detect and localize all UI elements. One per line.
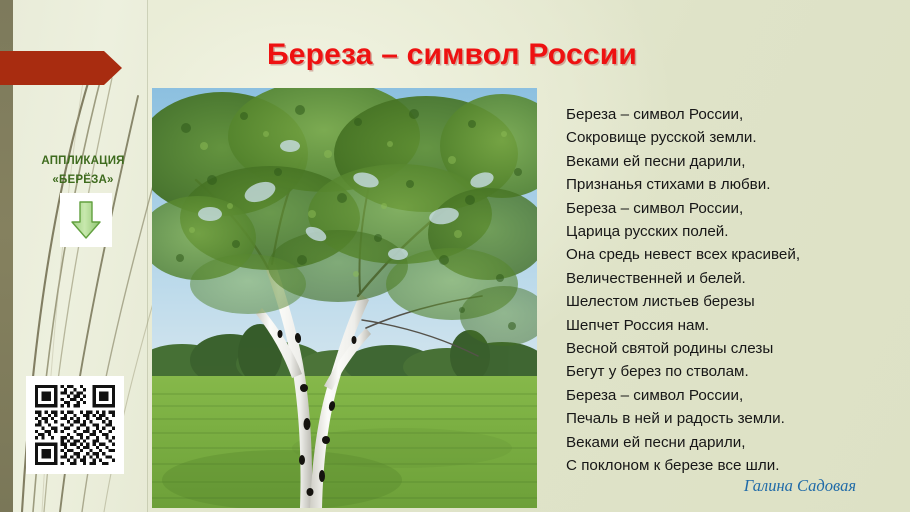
poem-line: Она средь невест всех красивей, <box>566 243 896 266</box>
qr-code-container[interactable] <box>26 376 124 474</box>
poem-line: Береза – символ России, <box>566 103 896 126</box>
poem-line: Величественней и белей. <box>566 267 896 290</box>
poem-line: Веками ей песни дарили, <box>566 431 896 454</box>
poem-line: Веками ей песни дарили, <box>566 150 896 173</box>
qr-code-icon <box>35 385 115 465</box>
poem-line: Печаль в ней и радость земли. <box>566 407 896 430</box>
sidebar-divider <box>147 0 148 512</box>
sidebar-caption-line1: АППЛИКАЦИЯ <box>22 152 144 171</box>
poem-line: Бегут у берез по стволам. <box>566 360 896 383</box>
page-title: Береза – символ России <box>152 38 752 72</box>
poem-line: Береза – символ России, <box>566 384 896 407</box>
sidebar-caption: АППЛИКАЦИЯ «БЕРЁЗА» <box>22 152 144 190</box>
poem-line: Шепчет Россия нам. <box>566 314 896 337</box>
poem-line: Царица русских полей. <box>566 220 896 243</box>
birch-tree-photo <box>152 88 537 508</box>
accent-arrow-banner <box>0 51 122 85</box>
arrow-down-button[interactable] <box>60 193 112 247</box>
poem-line: Береза – символ России, <box>566 197 896 220</box>
poem-author: Галина Садовая <box>566 476 856 496</box>
arrow-down-icon <box>69 200 103 240</box>
poem-line: Шелестом листьев березы <box>566 290 896 313</box>
poem-line: Признанья стихами в любви. <box>566 173 896 196</box>
poem-line: С поклоном к березе все шли. <box>566 454 896 477</box>
poem-text: Береза – символ России, Сокровище русско… <box>566 103 896 478</box>
slide-canvas: АППЛИКАЦИЯ «БЕРЁЗА» <box>0 0 910 512</box>
sidebar-caption-line2: «БЕРЁЗА» <box>22 171 144 190</box>
poem-line: Сокровище русской земли. <box>566 126 896 149</box>
poem-line: Весной святой родины слезы <box>566 337 896 360</box>
